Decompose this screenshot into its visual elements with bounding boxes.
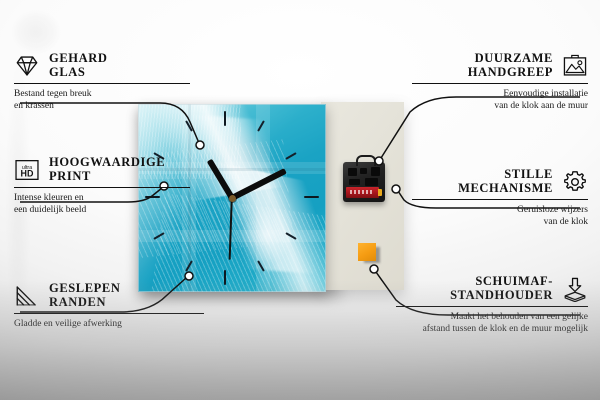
feature-stille-mechanisme: STILLE MECHANISME Geruisloze wijzers van… (412, 168, 588, 228)
hanger-hook (356, 155, 376, 166)
feature-title: DUURZAME HANDGREEP (468, 52, 553, 79)
ultra-hd-icon: ultra HD (14, 157, 40, 183)
divider (412, 83, 588, 84)
divider (14, 187, 190, 188)
divider (412, 199, 588, 200)
divider (14, 313, 204, 314)
product-infographic: GEHARD GLAS Bestand tegen breuk en krass… (0, 0, 600, 400)
clock-movement (343, 162, 385, 202)
feature-title: GESLEPEN RANDEN (49, 282, 121, 309)
divider (14, 83, 190, 84)
feature-desc: Maakt het behouden van een gelijke afsta… (396, 312, 588, 335)
press-down-icon (562, 276, 588, 302)
svg-text:HD: HD (21, 168, 34, 178)
feature-schuimafstandhouder: SCHUIMAF- STANDHOUDER Maakt het behouden… (396, 275, 588, 335)
feature-duurzame-handgreep: DUURZAME HANDGREEP Eenvoudige installati… (412, 52, 588, 112)
foam-spacer (358, 243, 376, 261)
gear-icon (562, 169, 588, 195)
picture-frame-icon (562, 53, 588, 79)
diamond-icon (14, 53, 40, 79)
feature-desc: Geruisloze wijzers van de klok (412, 205, 588, 228)
divider (396, 306, 588, 307)
feature-title: SCHUIMAF- STANDHOUDER (450, 275, 553, 302)
feature-title: HOOGWAARDIGE PRINT (49, 156, 165, 183)
feature-hoogwaardige-print: ultra HD HOOGWAARDIGE PRINT Intense kleu… (14, 156, 190, 216)
feature-desc: Gladde en veilige afwerking (14, 319, 204, 331)
feature-desc: Eenvoudige installatie van de klok aan d… (412, 89, 588, 112)
feature-geslepen-randen: GESLEPEN RANDEN Gladde en veilige afwerk… (14, 282, 204, 331)
feature-gehard-glas: GEHARD GLAS Bestand tegen breuk en krass… (14, 52, 190, 112)
feature-desc: Intense kleuren en een duidelijk beeld (14, 193, 190, 216)
feature-title: GEHARD GLAS (49, 52, 107, 79)
feature-desc: Bestand tegen breuk en krassen (14, 89, 190, 112)
battery (346, 187, 379, 198)
feature-title: STILLE MECHANISME (458, 168, 553, 195)
beveled-edges-icon (14, 283, 40, 309)
